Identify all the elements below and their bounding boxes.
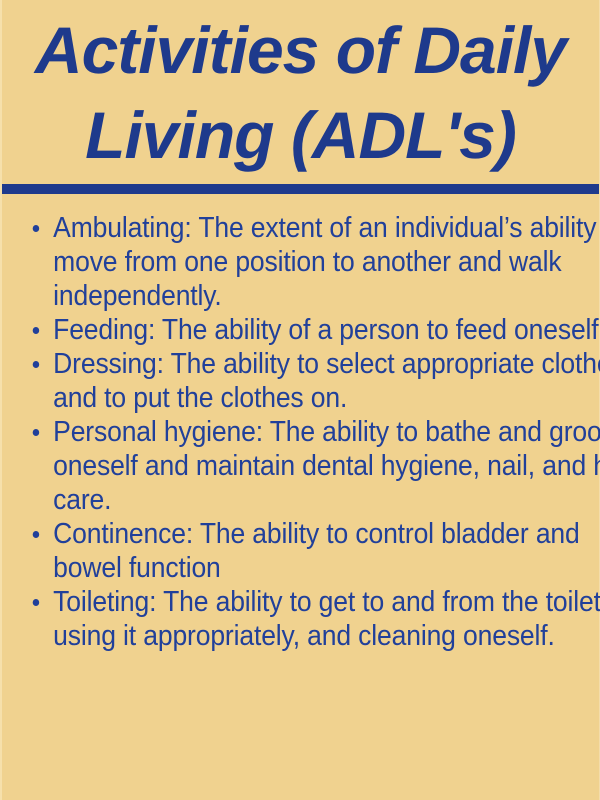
list-item: Toileting: The ability to get to and fro… [2, 585, 600, 653]
bullet-dot-icon [33, 429, 40, 436]
list-item-text: Ambulating: The extent of an individual’… [53, 212, 600, 312]
bullet-dot-icon [33, 599, 40, 606]
list-item: Continence: The ability to control bladd… [2, 517, 600, 585]
list-item-text: Feeding: The ability of a person to feed… [53, 314, 600, 346]
page-title: Activities of Daily Living (ADL's) [2, 0, 599, 178]
list-item-text: Dressing: The ability to select appropri… [53, 348, 600, 414]
bullet-dot-icon [33, 361, 40, 368]
slide-canvas: Activities of Daily Living (ADL's) Ambul… [0, 0, 600, 800]
list-item-text: Continence: The ability to control bladd… [53, 518, 579, 584]
list-item: Dressing: The ability to select appropri… [2, 347, 600, 415]
list-item: Personal hygiene: The ability to bathe a… [2, 415, 600, 517]
bullet-dot-icon [33, 327, 40, 334]
list-item: Feeding: The ability of a person to feed… [2, 313, 600, 347]
page-title-line-2: Living (ADL's) [20, 93, 581, 178]
list-item: Ambulating: The extent of an individual’… [2, 211, 600, 313]
list-item-text: Personal hygiene: The ability to bathe a… [53, 416, 600, 516]
bullet-list: Ambulating: The extent of an individual’… [2, 211, 588, 653]
title-divider-rule [2, 184, 599, 194]
list-item-text: Toileting: The ability to get to and fro… [53, 586, 600, 652]
bullet-dot-icon [33, 225, 40, 232]
adl-definition-list: Ambulating: The extent of an individual’… [2, 211, 600, 653]
bullet-dot-icon [33, 531, 40, 538]
page-title-line-1: Activities of Daily [20, 8, 581, 93]
